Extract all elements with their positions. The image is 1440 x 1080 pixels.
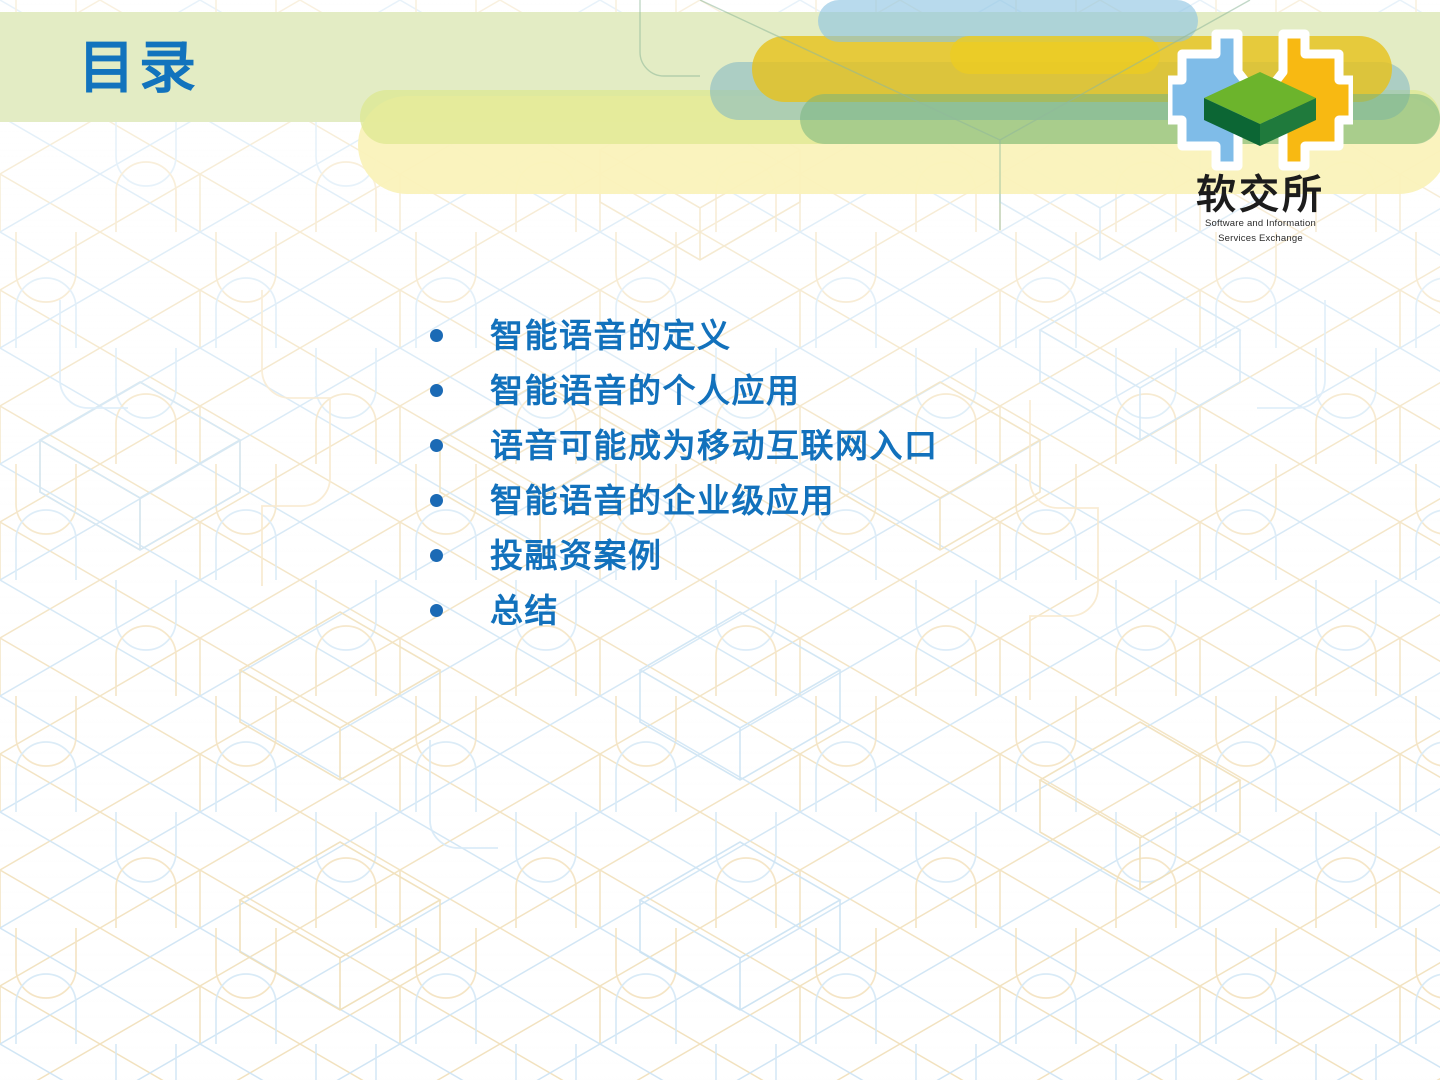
list-item-label: 投融资案例 bbox=[490, 539, 663, 572]
logo-wordmark: 软交所 Software and Information Services Ex… bbox=[1168, 175, 1353, 245]
list-item-label: 智能语音的定义 bbox=[490, 319, 732, 352]
list-item-label: 总结 bbox=[490, 594, 559, 627]
list-item[interactable]: 智能语音的定义 bbox=[430, 308, 939, 363]
bullet-icon bbox=[430, 439, 443, 452]
list-item-label: 智能语音的企业级应用 bbox=[490, 484, 835, 517]
bullet-icon bbox=[430, 384, 443, 397]
list-item-label: 智能语音的个人应用 bbox=[490, 374, 801, 407]
list-item-label: 语音可能成为移动互联网入口 bbox=[490, 429, 939, 462]
table-of-contents-list: 智能语音的定义 智能语音的个人应用 语音可能成为移动互联网入口 智能语音的企业级… bbox=[430, 308, 939, 638]
logo-name-cn: 软交所 bbox=[1168, 175, 1353, 215]
header-band-gold-accent bbox=[950, 36, 1160, 74]
logo: 软交所 Software and Information Services Ex… bbox=[1168, 20, 1353, 248]
list-item[interactable]: 语音可能成为移动互联网入口 bbox=[430, 418, 939, 473]
slide-root: 目录 软交所 Software and Information Services… bbox=[0, 0, 1440, 1080]
list-item[interactable]: 总结 bbox=[430, 583, 939, 638]
bullet-icon bbox=[430, 494, 443, 507]
bullet-icon bbox=[430, 604, 443, 617]
bullet-icon bbox=[430, 329, 443, 342]
bullet-icon bbox=[430, 549, 443, 562]
list-item[interactable]: 智能语音的企业级应用 bbox=[430, 473, 939, 528]
logo-name-en-line1: Software and Information bbox=[1168, 218, 1353, 230]
header-band-blue bbox=[818, 0, 1198, 42]
list-item[interactable]: 智能语音的个人应用 bbox=[430, 363, 939, 418]
logo-name-en-line2: Services Exchange bbox=[1168, 233, 1353, 245]
page-title: 目录 bbox=[78, 40, 200, 97]
list-item[interactable]: 投融资案例 bbox=[430, 528, 939, 583]
logo-mark-icon bbox=[1168, 20, 1353, 180]
